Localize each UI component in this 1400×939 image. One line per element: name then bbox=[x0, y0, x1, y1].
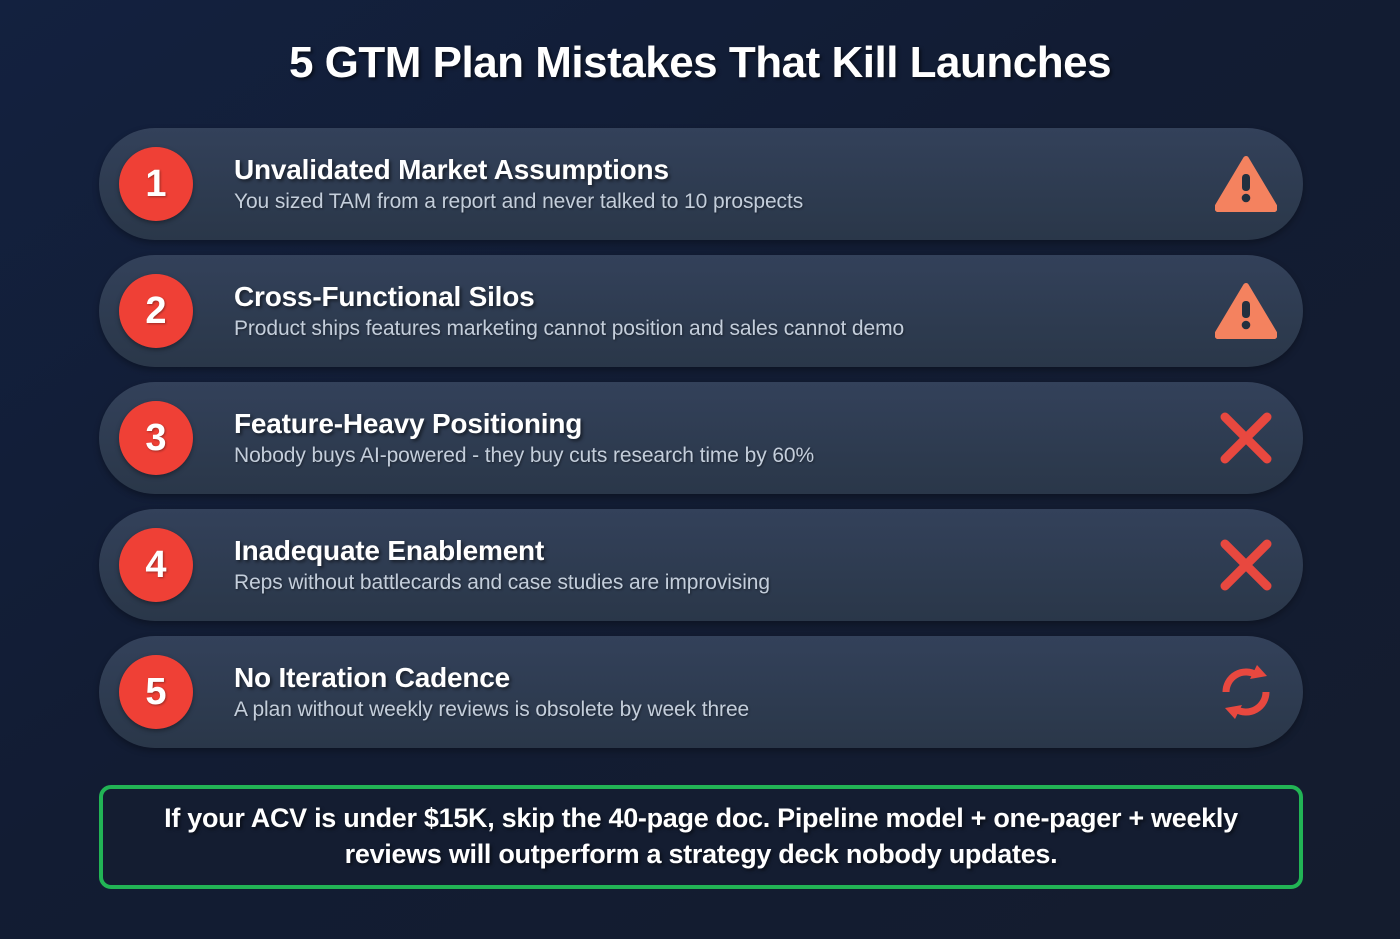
rank-badge: 1 bbox=[119, 147, 193, 221]
list-item-title: Inadequate Enablement bbox=[234, 535, 1187, 566]
list-item-text: No Iteration Cadence A plan without week… bbox=[234, 662, 1203, 722]
list-item: 5 No Iteration Cadence A plan without we… bbox=[99, 636, 1303, 748]
cross-x-icon bbox=[1203, 409, 1289, 467]
refresh-cycle-icon bbox=[1203, 663, 1289, 721]
list-item-title: Cross-Functional Silos bbox=[234, 281, 1187, 312]
list-item: 1 Unvalidated Market Assumptions You siz… bbox=[99, 128, 1303, 240]
list-item-text: Cross-Functional Silos Product ships fea… bbox=[234, 281, 1203, 341]
list-item-text: Inadequate Enablement Reps without battl… bbox=[234, 535, 1203, 595]
list-item-title: Feature-Heavy Positioning bbox=[234, 408, 1187, 439]
list-item: 4 Inadequate Enablement Reps without bat… bbox=[99, 509, 1303, 621]
list-item-subtitle: A plan without weekly reviews is obsolet… bbox=[234, 697, 1187, 722]
rank-badge: 4 bbox=[119, 528, 193, 602]
list-item-subtitle: You sized TAM from a report and never ta… bbox=[234, 189, 1187, 214]
warning-triangle-icon bbox=[1203, 283, 1289, 339]
list-item-subtitle: Product ships features marketing cannot … bbox=[234, 316, 1187, 341]
list-item-title: No Iteration Cadence bbox=[234, 662, 1187, 693]
infographic-poster: 5 GTM Plan Mistakes That Kill Launches 1… bbox=[0, 0, 1400, 939]
rank-badge: 3 bbox=[119, 401, 193, 475]
list-item-title: Unvalidated Market Assumptions bbox=[234, 154, 1187, 185]
warning-triangle-icon bbox=[1203, 156, 1289, 212]
list-item: 2 Cross-Functional Silos Product ships f… bbox=[99, 255, 1303, 367]
list-item-subtitle: Nobody buys AI-powered - they buy cuts r… bbox=[234, 443, 1187, 468]
callout-text: If your ACV is under $15K, skip the 40-p… bbox=[125, 801, 1277, 872]
list-item-subtitle: Reps without battlecards and case studie… bbox=[234, 570, 1187, 595]
mistakes-list: 1 Unvalidated Market Assumptions You siz… bbox=[99, 128, 1303, 763]
page-title: 5 GTM Plan Mistakes That Kill Launches bbox=[0, 38, 1400, 88]
cross-x-icon bbox=[1203, 536, 1289, 594]
list-item: 3 Feature-Heavy Positioning Nobody buys … bbox=[99, 382, 1303, 494]
rank-badge: 2 bbox=[119, 274, 193, 348]
list-item-text: Feature-Heavy Positioning Nobody buys AI… bbox=[234, 408, 1203, 468]
list-item-text: Unvalidated Market Assumptions You sized… bbox=[234, 154, 1203, 214]
callout-box: If your ACV is under $15K, skip the 40-p… bbox=[99, 785, 1303, 889]
rank-badge: 5 bbox=[119, 655, 193, 729]
